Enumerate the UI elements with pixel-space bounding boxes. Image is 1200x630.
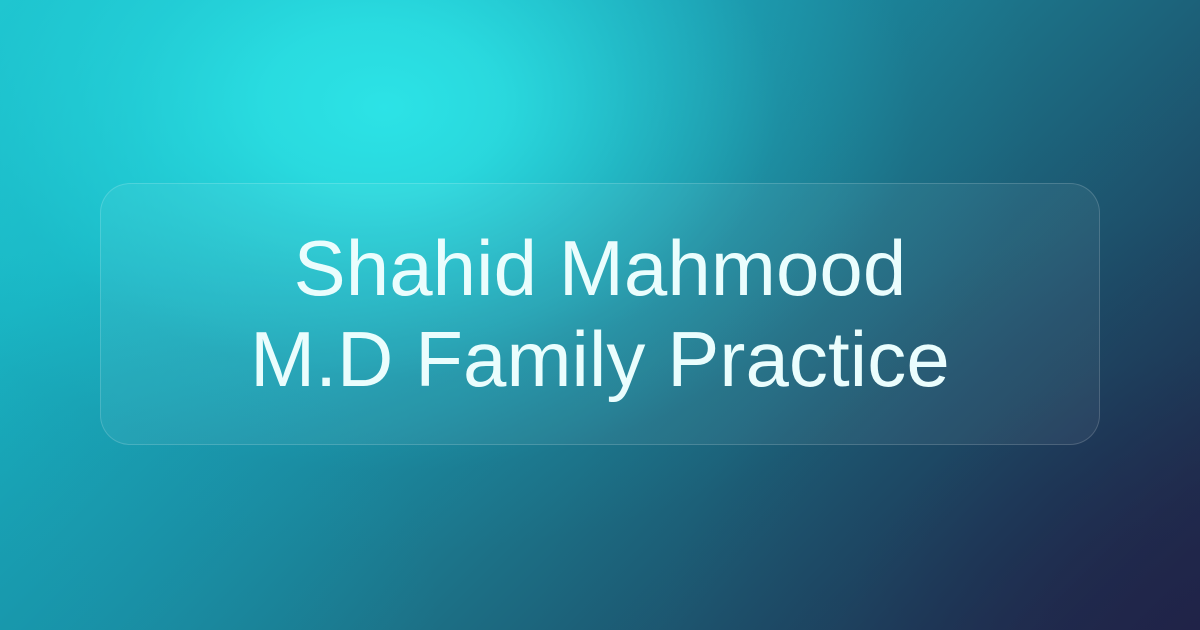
content-frame: Shahid Mahmood M.D Family Practice — [0, 0, 1200, 630]
og-card-canvas: Shahid Mahmood M.D Family Practice — [0, 0, 1200, 630]
title-plaque: Shahid Mahmood M.D Family Practice — [100, 183, 1100, 445]
page-title-line-1: Shahid Mahmood — [250, 223, 950, 314]
page-title-line-2: M.D Family Practice — [250, 314, 950, 405]
page-title: Shahid Mahmood M.D Family Practice — [250, 223, 950, 406]
